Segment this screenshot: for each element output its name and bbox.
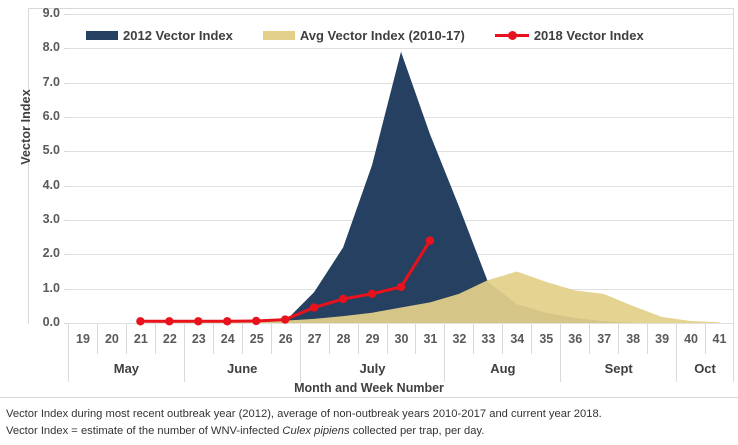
y-axis-tick	[64, 220, 68, 221]
y-axis-tick	[64, 117, 68, 118]
x-axis-month-label: Oct	[676, 354, 734, 382]
x-axis-week-label: 38	[618, 324, 647, 354]
y-axis-tick	[64, 48, 68, 49]
footnote-species-name: Culex pipiens	[282, 425, 349, 437]
footnote-line-2: Vector Index = estimate of the number of…	[6, 423, 732, 440]
y-axis-tick	[64, 83, 68, 84]
x-axis-week-label: 26	[271, 324, 300, 354]
data-point-2018	[426, 236, 434, 244]
x-axis-week-label: 32	[444, 324, 473, 354]
x-axis-week-row: 1920212223242526272829303132333435363738…	[68, 324, 734, 354]
x-axis-week-label: 41	[705, 324, 734, 354]
data-point-2018	[368, 290, 376, 298]
y-axis-tick-label: 5.0	[20, 143, 60, 157]
data-point-2018	[339, 295, 347, 303]
x-axis-week-label: 21	[126, 324, 155, 354]
y-axis-tick-label: 3.0	[20, 212, 60, 226]
y-axis-tick-label: 2.0	[20, 246, 60, 260]
chart-page: Vector Index 0.01.02.03.04.05.06.07.08.0…	[0, 0, 738, 445]
legend-label-avg: Avg Vector Index (2010-17)	[300, 28, 465, 43]
legend-label-2012: 2012 Vector Index	[123, 28, 233, 43]
x-axis-month-label: June	[184, 354, 300, 382]
y-axis-tick	[64, 151, 68, 152]
legend-item-2012[interactable]: 2012 Vector Index	[86, 28, 233, 43]
x-axis-month-label: July	[300, 354, 445, 382]
x-axis-week-label: 27	[300, 324, 329, 354]
x-axis-title: Month and Week Number	[0, 381, 738, 395]
y-axis-tick	[64, 289, 68, 290]
x-axis-week-label: 40	[676, 324, 705, 354]
data-point-2018	[397, 283, 405, 291]
y-axis-tick	[64, 14, 68, 15]
y-axis-tick	[64, 254, 68, 255]
data-point-2018	[310, 303, 318, 311]
x-axis-week-label: 31	[415, 324, 444, 354]
series-layer	[68, 14, 734, 323]
x-axis-week-label: 30	[387, 324, 416, 354]
chart-footnotes: Vector Index during most recent outbreak…	[6, 406, 732, 441]
data-point-2018	[281, 315, 289, 323]
x-axis-week-label: 34	[502, 324, 531, 354]
x-axis-week-label: 25	[242, 324, 271, 354]
x-axis-week-label: 35	[531, 324, 560, 354]
x-axis-week-label: 20	[97, 324, 126, 354]
x-axis-month-row: MayJuneJulyAugSeptOct	[68, 354, 734, 382]
x-axis-week-label: 19	[68, 324, 97, 354]
chart-card: Vector Index 0.01.02.03.04.05.06.07.08.0…	[0, 0, 738, 398]
legend-item-avg[interactable]: Avg Vector Index (2010-17)	[263, 28, 465, 43]
legend-swatch-avg	[263, 31, 295, 40]
x-axis-week-label: 39	[647, 324, 676, 354]
x-axis-month-label: Sept	[560, 354, 676, 382]
y-axis-tick-label: 6.0	[20, 109, 60, 123]
x-axis-month-label: Aug	[444, 354, 560, 382]
plot-area	[68, 14, 734, 323]
y-axis-tick-label: 1.0	[20, 281, 60, 295]
footnote-line-1: Vector Index during most recent outbreak…	[6, 406, 732, 423]
x-axis-week-label: 24	[213, 324, 242, 354]
y-axis-tick-label: 7.0	[20, 75, 60, 89]
x-axis-week-label: 33	[473, 324, 502, 354]
area-2012	[82, 52, 719, 323]
x-axis-week-label: 22	[155, 324, 184, 354]
footnote-line-2-post: collected per trap, per day.	[350, 425, 485, 437]
x-axis-month-label: May	[68, 354, 184, 382]
x-axis-week-label: 29	[358, 324, 387, 354]
x-axis-week-label: 36	[560, 324, 589, 354]
y-axis-tick-label: 9.0	[20, 6, 60, 20]
x-axis-week-label: 28	[329, 324, 358, 354]
x-axis-week-label: 23	[184, 324, 213, 354]
x-axis-week-label: 37	[589, 324, 618, 354]
legend-label-2018: 2018 Vector Index	[534, 28, 644, 43]
chart-legend: 2012 Vector Index Avg Vector Index (2010…	[86, 28, 674, 43]
legend-swatch-2018	[495, 30, 529, 41]
footnote-line-2-pre: Vector Index = estimate of the number of…	[6, 425, 282, 437]
legend-item-2018[interactable]: 2018 Vector Index	[495, 28, 644, 43]
y-axis-tick	[64, 186, 68, 187]
y-axis-tick-label: 4.0	[20, 178, 60, 192]
y-axis-tick-label: 0.0	[20, 315, 60, 329]
y-axis-tick-label: 8.0	[20, 40, 60, 54]
legend-swatch-2012	[86, 31, 118, 40]
